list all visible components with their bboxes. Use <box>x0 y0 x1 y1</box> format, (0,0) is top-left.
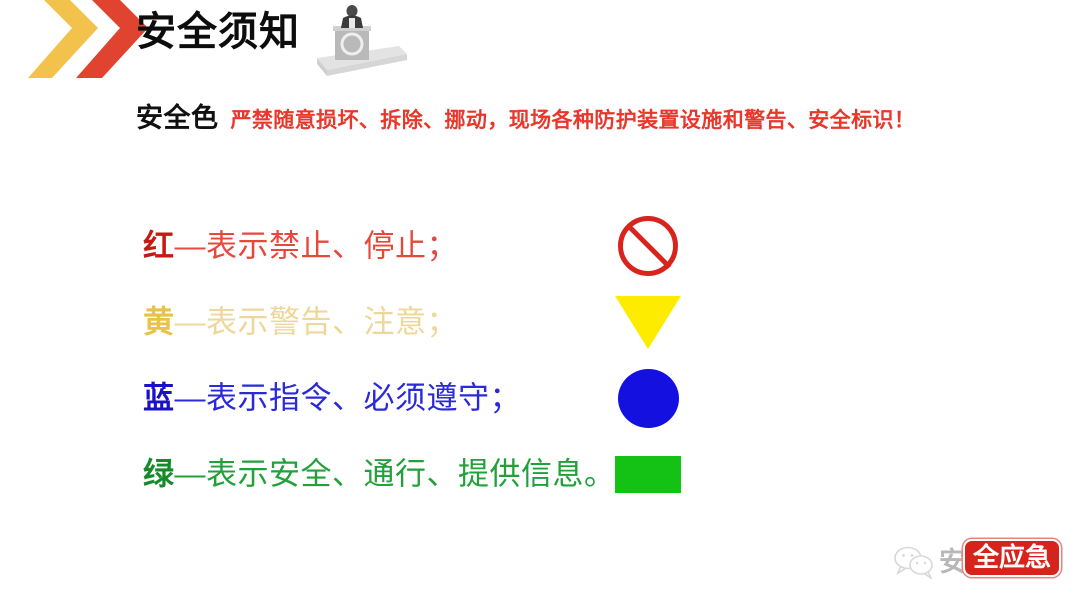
page-title: 安全须知 <box>136 12 300 52</box>
shape-cell <box>600 286 696 358</box>
mandatory-circle-icon <box>618 369 679 428</box>
slide-canvas: 安全须知 安全色 严禁随意损坏、拆除、挪动，现场各种防护装置设施和警告、安全标识… <box>0 0 1080 608</box>
safe-rectangle-icon <box>615 456 681 493</box>
subtitle-warning-note: 严禁随意损坏、拆除、挪动，现场各种防护装置设施和警告、安全标识！ <box>231 104 916 134</box>
watermark-text: 安 <box>939 549 966 576</box>
color-row-key: 黄 <box>143 305 175 340</box>
speaker-podium-icon <box>303 2 415 84</box>
shape-cell <box>600 210 696 282</box>
shape-cell <box>600 362 696 434</box>
subtitle-key: 安全色 <box>136 96 219 135</box>
color-row-text: 黄—表示警告、注意； <box>143 307 458 338</box>
watermark-badge: 全应急 <box>963 539 1061 577</box>
shape-cell <box>600 438 696 510</box>
color-row-yellow: 黄—表示警告、注意； <box>0 284 1080 360</box>
color-row-desc: —表示警告、注意； <box>175 305 459 340</box>
color-row-text: 绿—表示安全、通行、提供信息。 <box>143 459 616 490</box>
safety-color-list: 红—表示禁止、停止； 黄—表示警告、注意； 蓝—表示指令、必须遵守； <box>0 208 1080 512</box>
color-row-text: 红—表示禁止、停止； <box>143 231 458 262</box>
color-row-red: 红—表示禁止、停止； <box>0 208 1080 284</box>
color-row-key: 蓝 <box>143 381 175 416</box>
color-row-key: 绿 <box>143 457 175 492</box>
color-row-desc: —表示安全、通行、提供信息。 <box>175 457 616 492</box>
prohibition-sign-icon <box>618 216 678 276</box>
color-row-blue: 蓝—表示指令、必须遵守； <box>0 360 1080 436</box>
warning-triangle-icon <box>615 296 681 349</box>
color-row-key: 红 <box>143 229 175 264</box>
wechat-icon <box>893 545 935 579</box>
color-row-text: 蓝—表示指令、必须遵守； <box>143 383 521 414</box>
color-row-green: 绿—表示安全、通行、提供信息。 <box>0 436 1080 512</box>
watermark: 安 全应急 <box>893 536 1073 588</box>
color-row-desc: —表示禁止、停止； <box>175 229 459 264</box>
subtitle-row: 安全色 严禁随意损坏、拆除、挪动，现场各种防护装置设施和警告、安全标识！ <box>136 96 915 135</box>
color-row-desc: —表示指令、必须遵守； <box>175 381 522 416</box>
